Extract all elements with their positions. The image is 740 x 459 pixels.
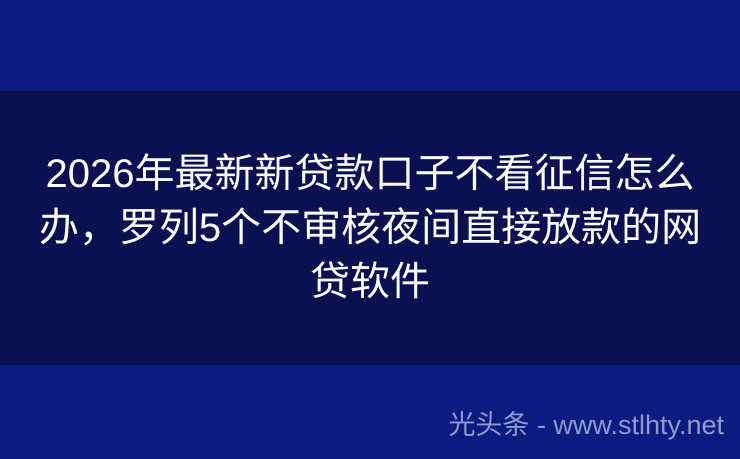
top-color-band	[0, 0, 740, 91]
site-watermark: 光头条 - www.stlhty.net	[448, 409, 724, 441]
title-block: 2026年最新新贷款口子不看征信怎么办，罗列5个不审核夜间直接放款的网贷软件	[0, 91, 740, 365]
article-title: 2026年最新新贷款口子不看征信怎么办，罗列5个不审核夜间直接放款的网贷软件	[34, 147, 706, 309]
article-banner: 2026年最新新贷款口子不看征信怎么办，罗列5个不审核夜间直接放款的网贷软件 光…	[0, 0, 740, 459]
